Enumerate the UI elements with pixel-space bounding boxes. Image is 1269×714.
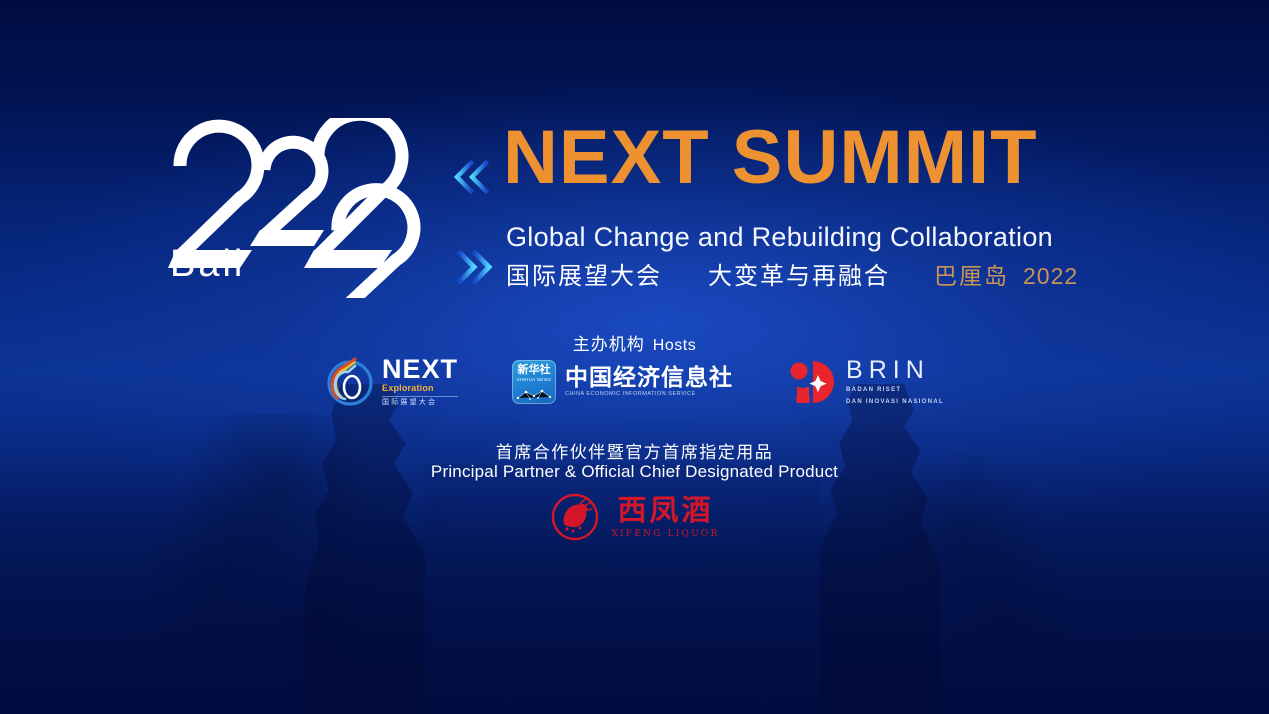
host-logo-ceis: 新华社 XINHUA NEWS 中国经济信息社 [512, 357, 733, 407]
poster-canvas: Bali [0, 0, 1269, 714]
temple-gate-right [820, 384, 940, 714]
next-logo-tagline: Exploration [382, 383, 458, 394]
subtitle-year: 2022 [1023, 263, 1078, 290]
next-logo-text: NEXT Exploration 国际展望大会 [382, 356, 458, 407]
page-title: NEXT SUMMIT [503, 118, 1038, 198]
xifeng-title-cn: 西凤酒 [617, 496, 713, 525]
chevron-double-right-icon [452, 250, 498, 284]
xifeng-logo-text: 西凤酒 XIFENG LIQUOR [612, 496, 720, 539]
subtitle-chinese-1: 国际展望大会 [506, 256, 662, 291]
xinhua-badge-cn: 新华社 [518, 365, 551, 376]
xinhua-network-dots [512, 386, 556, 401]
partner-logo-xifeng: 西凤酒 XIFENG LIQUOR [550, 492, 720, 542]
logo-bali-label: Bali [170, 245, 245, 283]
hosts-label-cn: 主办机构 [573, 335, 645, 354]
partner-label-en: Principal Partner & Official Chief Desig… [0, 462, 1269, 482]
xifeng-seal-icon [550, 492, 600, 542]
host-logo-brin: BRIN BADAN RISET DAN INOVASI NASIONAL [787, 356, 944, 408]
xinhua-badge-icon: 新华社 XINHUA NEWS [512, 360, 556, 404]
hosts-label-en: Hosts [653, 337, 696, 354]
subtitle-chinese-2: 大变革与再融合 [708, 256, 890, 291]
ceis-title-cn: 中国经济信息社 [565, 365, 733, 389]
brin-emblem-icon [787, 357, 837, 407]
next-logo-subtitle-cn: 国际展望大会 [382, 396, 458, 408]
temple-gate-left [305, 384, 425, 714]
header-block: Bali [0, 0, 1269, 310]
brin-subtitle-1: BADAN RISET [846, 386, 944, 395]
partner-label-cn: 首席合作伙伴暨官方首席指定用品 [0, 438, 1269, 463]
brin-logo-text: BRIN BADAN RISET DAN INOVASI NASIONAL [846, 358, 944, 407]
partner-logo-row: 西凤酒 XIFENG LIQUOR [0, 492, 1269, 542]
host-logo-row: NEXT Exploration 国际展望大会 新华社 XINHUA NEWS [0, 356, 1269, 408]
subtitle-english: Global Change and Rebuilding Collaborati… [506, 222, 1053, 253]
chevron-double-left-icon [452, 160, 498, 194]
next-logo-title: NEXT [382, 356, 458, 383]
ceis-title-en: CHINA ECONOMIC INFORMATION SERVICE [565, 391, 733, 399]
xifeng-title-en: XIFENG LIQUOR [612, 529, 720, 539]
brin-title: BRIN [846, 358, 944, 383]
hosts-label: 主办机构Hosts [0, 330, 1269, 355]
xinhua-badge-en: XINHUA NEWS [517, 377, 552, 382]
next-swirl-icon [325, 357, 375, 407]
subtitle-location: 巴厘岛 [934, 257, 1009, 291]
brin-subtitle-2: DAN INOVASI NASIONAL [846, 398, 944, 407]
subtitle-chinese-row: 国际展望大会 大变革与再融合 巴厘岛 2022 [506, 256, 1078, 291]
host-logo-next: NEXT Exploration 国际展望大会 [325, 356, 458, 408]
ceis-logo-text: 中国经济信息社 CHINA ECONOMIC INFORMATION SERVI… [565, 365, 733, 399]
